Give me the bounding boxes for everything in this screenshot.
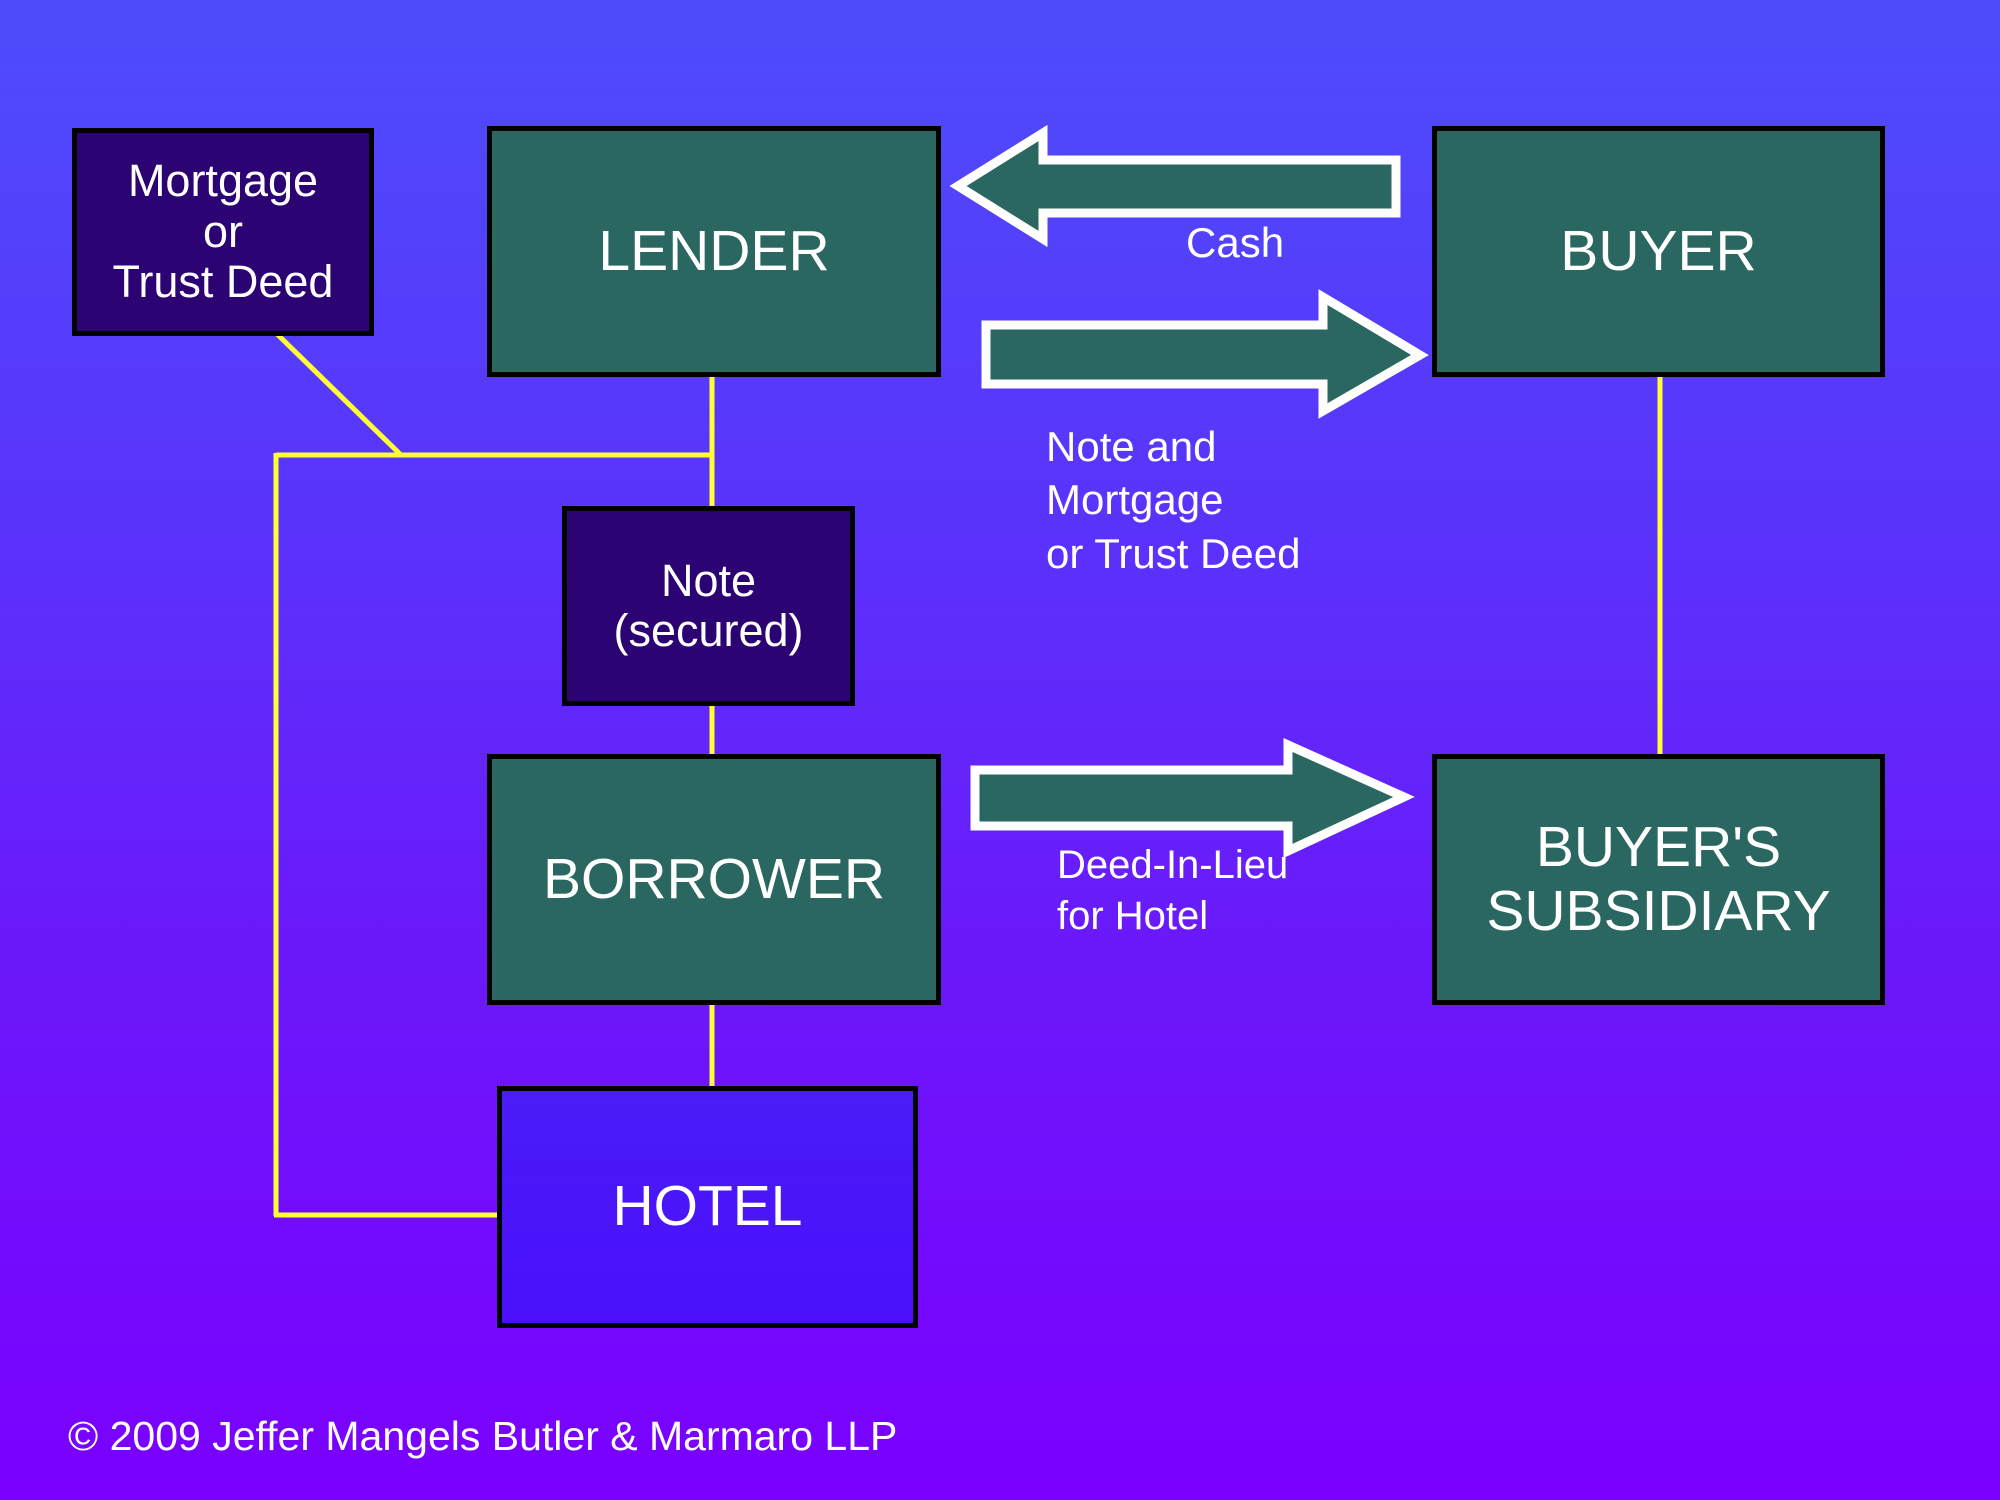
node-lender-label: LENDER [598,220,829,284]
node-buyers-subsidiary-label: BUYER'S SUBSIDIARY [1486,816,1830,944]
copyright-notice: © 2009 Jeffer Mangels Butler & Marmaro L… [68,1410,897,1462]
node-borrower[interactable]: BORROWER [487,754,941,1005]
node-mortgage-or-trust-deed[interactable]: Mortgage or Trust Deed [72,128,374,336]
arrow-label-deed-in-lieu: Deed-In-Lieu for Hotel [1057,840,1288,942]
node-borrower-label: BORROWER [543,848,885,912]
cash-arrow [958,133,1396,239]
node-lender[interactable]: LENDER [487,126,941,377]
node-buyer[interactable]: BUYER [1432,126,1885,377]
deed-in-lieu-arrow [975,745,1404,851]
node-mortgage-label: Mortgage or Trust Deed [113,156,334,307]
node-note-secured[interactable]: Note (secured) [562,506,855,706]
diagram-canvas: Mortgage or Trust Deed LENDER BUYER Note… [0,0,2000,1500]
node-buyers-subsidiary[interactable]: BUYER'S SUBSIDIARY [1432,754,1885,1005]
arrow-label-cash: Cash [1186,216,1284,269]
note-mortgage-arrow [986,297,1420,411]
node-hotel[interactable]: HOTEL [497,1086,918,1328]
node-hotel-label: HOTEL [612,1175,802,1239]
node-buyer-label: BUYER [1560,220,1756,284]
node-note-secured-label: Note (secured) [613,556,803,657]
arrow-label-note-and-mortgage: Note and Mortgage or Trust Deed [1046,420,1300,580]
